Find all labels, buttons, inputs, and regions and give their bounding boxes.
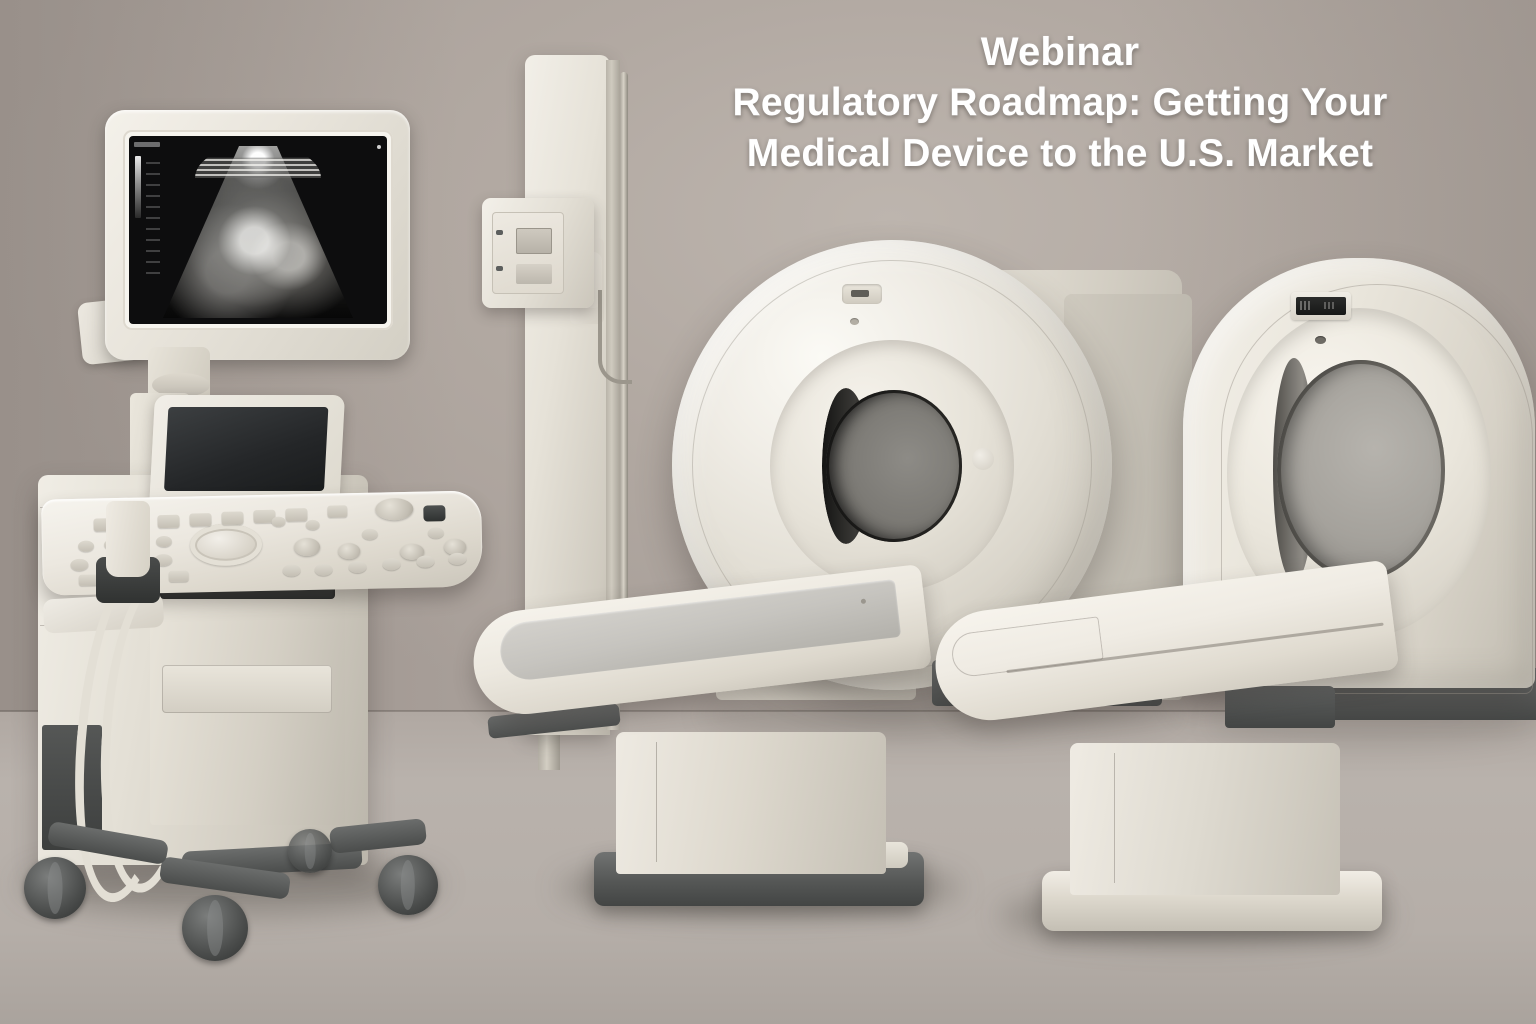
title-line-1: Webinar (690, 26, 1430, 78)
ultrasound-key-row3-6[interactable] (314, 564, 332, 576)
table-b-pedestal-column (1070, 743, 1340, 895)
ct-right-patient-bore (1277, 360, 1445, 580)
ultrasound-key-row3-1[interactable] (70, 559, 88, 571)
caster-front-right (378, 855, 438, 915)
xray-secondary-window (516, 264, 552, 284)
ultrasound-key-row3-5[interactable] (282, 564, 300, 576)
ultrasound-knob-gain[interactable] (375, 498, 413, 521)
caster-front-left (182, 895, 248, 961)
ultrasound-key-row1-5[interactable] (221, 511, 243, 524)
ultrasound-system (10, 105, 480, 915)
table-a-column-seam (656, 742, 657, 862)
xray-cable (598, 290, 632, 384)
ultrasound-touch-lcd-housing (149, 395, 345, 510)
ultrasound-key-row4-6[interactable] (306, 520, 320, 530)
ultrasound-probe-holder[interactable] (106, 501, 150, 577)
ultrasound-grayscale-bar (135, 156, 141, 218)
ultrasound-depth-ticks (146, 162, 160, 282)
ultrasound-orientation-marker (377, 145, 381, 149)
ultrasound-button-freeze[interactable] (423, 505, 445, 521)
ultrasound-key-row4-5[interactable] (271, 517, 285, 527)
ultrasound-touch-lcd[interactable] (164, 407, 328, 491)
ultrasound-key-row1-7[interactable] (285, 508, 307, 521)
ultrasound-key-row2-4[interactable] (156, 536, 172, 547)
ultrasound-trackball[interactable] (190, 523, 263, 566)
banner-title: Webinar Regulatory Roadmap: Getting Your… (690, 26, 1430, 179)
ultrasound-knob-focus[interactable] (338, 543, 360, 559)
ultrasound-key-row2-6[interactable] (428, 527, 444, 538)
ultrasound-key-row1-4[interactable] (189, 513, 211, 526)
ultrasound-key-row1-3[interactable] (157, 515, 179, 528)
table-b-table-top (929, 560, 1399, 727)
xray-power-led (496, 230, 503, 235)
ultrasound-monitor-bezel (123, 130, 393, 330)
table-b-column-seam (1114, 753, 1115, 883)
xray-display-window (516, 228, 552, 254)
ultrasound-screen (129, 136, 387, 324)
ultrasound-key-row2-1[interactable] (78, 541, 94, 552)
ct-right-status-display (1291, 292, 1351, 320)
title-line-3: Medical Device to the U.S. Market (690, 129, 1430, 180)
patient-table-middle (468, 560, 938, 910)
webinar-banner-image: Webinar Regulatory Roadmap: Getting Your… (0, 0, 1536, 1024)
ultrasound-key-row3-8[interactable] (382, 558, 400, 570)
table-a-table-top (468, 564, 932, 720)
ultrasound-key-row3-7[interactable] (348, 561, 366, 573)
ultrasound-key-row2-5[interactable] (362, 529, 378, 540)
caster-rear-right (288, 829, 332, 873)
xray-control-face (492, 212, 564, 294)
ultrasound-hud-text (134, 142, 160, 147)
ct-left-status-emblem (842, 284, 882, 304)
title-line-2: Regulatory Roadmap: Getting Your (690, 78, 1430, 129)
ultrasound-key-row3-10[interactable] (448, 553, 466, 565)
patient-table-right (930, 565, 1410, 940)
ct-left-indicator-light (850, 318, 859, 325)
ultrasound-key-row1-8[interactable] (327, 505, 347, 517)
table-a-mattress-pad (497, 579, 901, 683)
ultrasound-knob-depth[interactable] (294, 538, 320, 557)
ct-right-indicator-light (1315, 336, 1326, 344)
ct-left-service-cap (972, 448, 994, 470)
ct-left-patient-bore (826, 390, 962, 542)
xray-ready-led (496, 266, 503, 271)
ultrasound-display-monitor (105, 110, 410, 360)
xray-control-head (482, 198, 594, 308)
caster-rear-left (24, 857, 86, 919)
ultrasound-key-row3-9[interactable] (416, 555, 434, 567)
